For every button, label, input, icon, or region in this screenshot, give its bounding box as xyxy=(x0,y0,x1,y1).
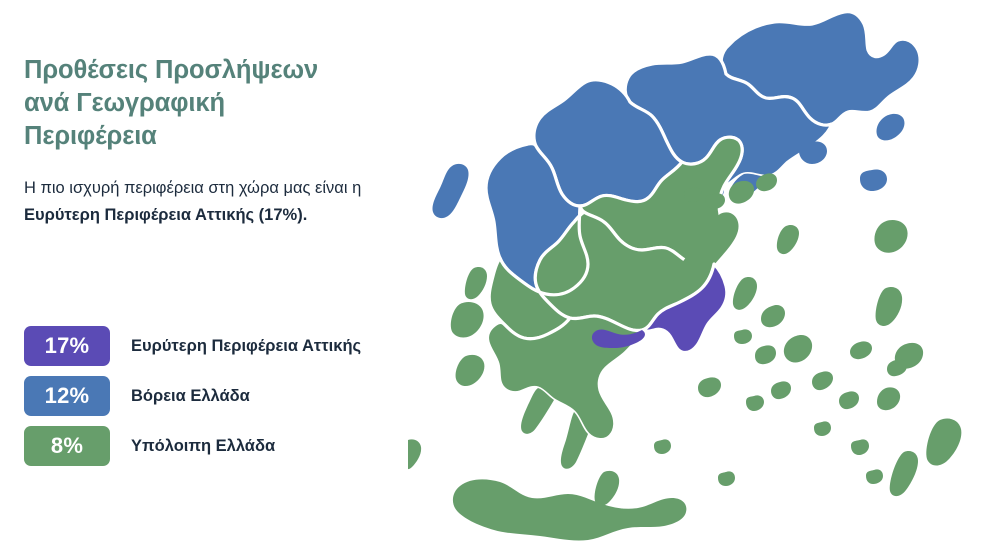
island-milos xyxy=(698,377,721,397)
island-syros xyxy=(734,329,752,344)
island-andros xyxy=(733,277,757,310)
island-naxos xyxy=(784,335,812,363)
page-title-line-3: Περιφέρεια xyxy=(24,122,157,150)
island-karpathos xyxy=(890,451,918,496)
subtitle-highlight: Ευρύτερη Περιφέρεια Αττικής (17%). xyxy=(24,206,307,224)
subtitle-plain-1: Η πιο ισχυρή περιφέρεια xyxy=(24,179,208,197)
island-samothraki xyxy=(860,169,887,191)
island-chios xyxy=(876,287,903,326)
island-tinos-mykonos xyxy=(761,305,785,327)
page-subtitle: Η πιο ισχυρή περιφέρεια στη χώρα μας είν… xyxy=(24,175,369,228)
island-paros xyxy=(755,345,776,364)
legend-label-northern-greece: Βόρεια Ελλάδα xyxy=(131,387,250,406)
island-small-dodecanese-1 xyxy=(851,439,869,455)
island-rhodes xyxy=(926,418,961,465)
legend-item-attica[interactable]: 17% Ευρύτερη Περιφέρεια Αττικής xyxy=(24,326,454,366)
text-panel: Προθέσεις Προσλήψεων ανά Γεωγραφική Περι… xyxy=(24,54,444,229)
island-astypalaia xyxy=(839,391,859,409)
island-small-aegean-dot xyxy=(814,421,831,436)
island-gavdos xyxy=(408,439,421,469)
island-lefkada xyxy=(465,267,487,299)
island-small-cyclades-1 xyxy=(718,471,735,486)
infographic-root: Προθέσεις Προσλήψεων ανά Γεωγραφική Περι… xyxy=(0,0,1002,555)
island-ikaria xyxy=(850,341,872,359)
legend-badge-attica: 17% xyxy=(24,326,110,366)
island-kefalonia xyxy=(451,302,484,338)
subtitle-plain-2: στη χώρα μας είναι η xyxy=(208,179,361,197)
page-title-line-1: Προθέσεις Προσλήψεων xyxy=(24,56,318,84)
legend-badge-rest-of-greece: 8% xyxy=(24,426,110,466)
greece-map-svg xyxy=(408,0,1002,555)
island-small-dodecanese-2 xyxy=(866,469,883,484)
island-small-cyclades-2 xyxy=(654,439,671,454)
greece-map xyxy=(408,0,1002,555)
legend-badge-northern-greece: 12% xyxy=(24,376,110,416)
island-skiathos-skopelos xyxy=(729,181,754,204)
legend-item-northern-greece[interactable]: 12% Βόρεια Ελλάδα xyxy=(24,376,454,416)
island-kos xyxy=(877,387,900,410)
legend: 17% Ευρύτερη Περιφέρεια Αττικής 12% Βόρε… xyxy=(24,326,454,476)
island-crete xyxy=(453,479,686,540)
island-corfu xyxy=(433,164,469,218)
island-limnos xyxy=(876,114,904,140)
island-skyros xyxy=(777,225,799,254)
island-kythira xyxy=(595,471,620,506)
legend-label-attica: Ευρύτερη Περιφέρεια Αττικής xyxy=(131,337,361,356)
legend-item-rest-of-greece[interactable]: 8% Υπόλοιπη Ελλάδα xyxy=(24,426,454,466)
island-small-north-1 xyxy=(705,193,725,209)
legend-label-rest-of-greece: Υπόλοιπη Ελλάδα xyxy=(131,437,275,456)
island-thasos xyxy=(799,141,827,164)
page-title: Προθέσεις Προσλήψεων ανά Γεωγραφική Περι… xyxy=(24,54,444,153)
island-ios xyxy=(771,381,791,399)
island-kalymnos xyxy=(887,359,907,376)
island-amorgos xyxy=(812,371,833,390)
island-lesvos xyxy=(874,220,907,253)
island-santorini xyxy=(746,395,764,411)
island-zakynthos xyxy=(456,355,485,386)
page-title-line-2: ανά Γεωγραφική xyxy=(24,89,225,117)
